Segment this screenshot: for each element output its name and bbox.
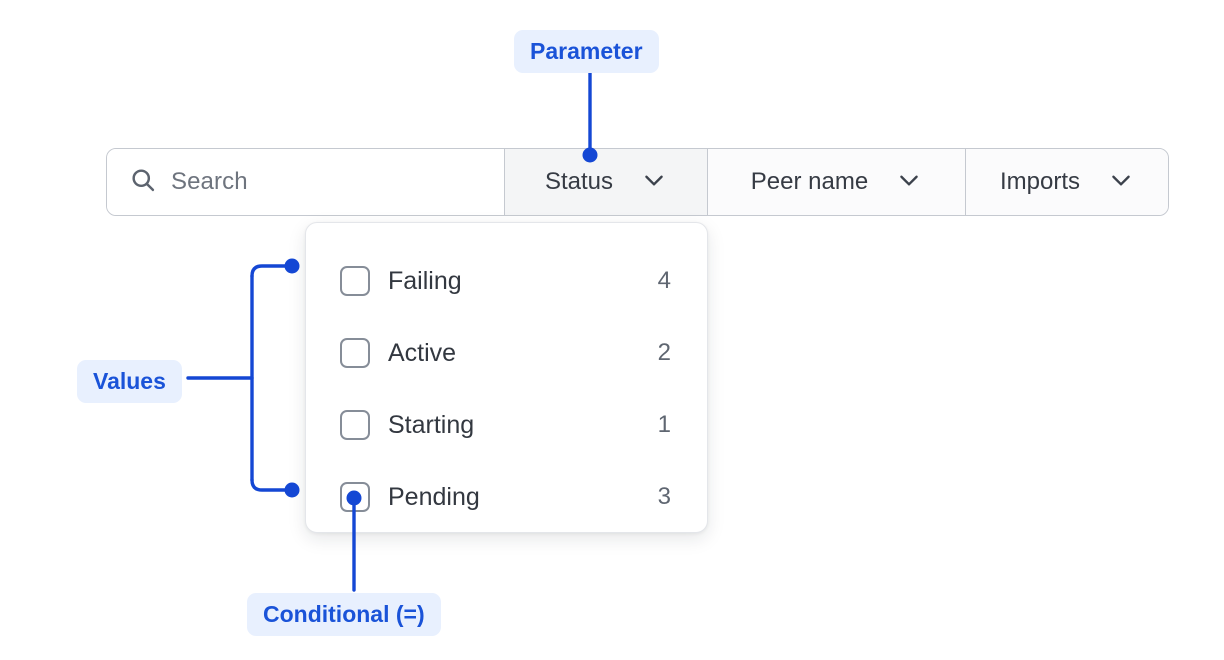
search-field[interactable] [107, 149, 505, 215]
chevron-down-icon [641, 167, 667, 198]
filter-button-status-label: Status [545, 168, 613, 196]
list-item[interactable]: Starting 1 [306, 389, 707, 461]
checkbox-starting[interactable] [340, 410, 370, 440]
chevron-down-icon [1108, 167, 1134, 198]
list-item[interactable]: Pending 3 [306, 461, 707, 533]
checkbox-active[interactable] [340, 338, 370, 368]
search-input[interactable] [171, 168, 482, 196]
annotation-parameter: Parameter [514, 30, 659, 73]
connector-values-top [252, 266, 286, 276]
status-filter-dropdown: Failing 4 Active 2 Starting 1 Pending 3 [305, 222, 708, 533]
checkbox-pending[interactable] [340, 482, 370, 512]
list-item-label: Starting [388, 411, 474, 440]
filter-button-status[interactable]: Status [505, 149, 708, 215]
chevron-down-icon [896, 167, 922, 198]
connector-dot-values-bottom [285, 483, 300, 498]
connector-dot-values-top [285, 259, 300, 274]
filter-button-peer-name[interactable]: Peer name [708, 149, 966, 215]
list-item-label: Pending [388, 483, 480, 512]
list-item-label: Failing [388, 267, 462, 296]
search-icon [129, 166, 157, 199]
filter-toolbar: Status Peer name Imports [106, 148, 1169, 216]
list-item[interactable]: Active 2 [306, 317, 707, 389]
list-item[interactable]: Failing 4 [306, 245, 707, 317]
annotation-conditional: Conditional (=) [247, 593, 441, 636]
list-item-count: 2 [658, 339, 671, 367]
list-item-label: Active [388, 339, 456, 368]
list-item-count: 3 [658, 483, 671, 511]
filter-button-imports[interactable]: Imports [966, 149, 1168, 215]
filter-button-peer-name-label: Peer name [751, 168, 868, 196]
annotated-filter-diagram: Status Peer name Imports [0, 0, 1224, 660]
filter-button-imports-label: Imports [1000, 168, 1080, 196]
annotation-values: Values [77, 360, 182, 403]
connector-values-bottom [252, 480, 286, 490]
checkbox-failing[interactable] [340, 266, 370, 296]
list-item-count: 4 [658, 267, 671, 295]
list-item-count: 1 [658, 411, 671, 439]
